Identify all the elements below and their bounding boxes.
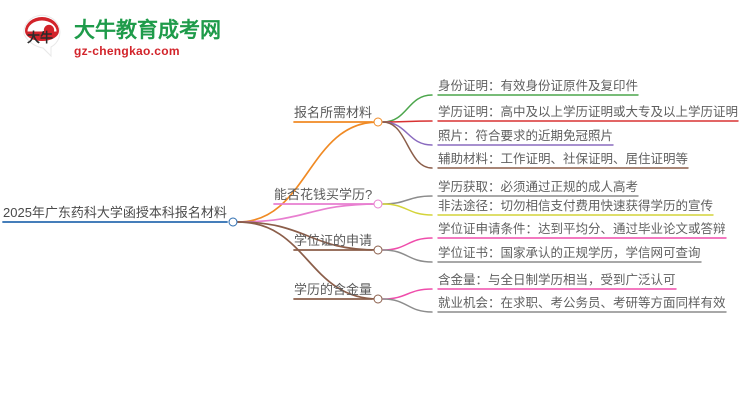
leaf-node-4-1[interactable]: 含金量：与全日制学历相当，受到广泛认可 bbox=[438, 272, 676, 288]
node-dot[interactable] bbox=[229, 218, 238, 227]
node-dot[interactable] bbox=[374, 200, 383, 209]
leaf-node-4-2[interactable]: 就业机会：在求职、考公务员、考研等方面同样有效 bbox=[438, 295, 726, 311]
leaf-node-3-1[interactable]: 学位证申请条件：达到平均分、通过毕业论文或答辩 bbox=[438, 221, 726, 237]
leaf-node-2-1[interactable]: 学历获取：必须通过正规的成人高考 bbox=[438, 179, 638, 195]
branch-node-3[interactable]: 学位证的申请 bbox=[294, 233, 372, 249]
leaf-node-2-2[interactable]: 非法途径：切勿相信支付费用快速获得学历的宣传 bbox=[438, 198, 713, 214]
branch-node-4[interactable]: 学历的含金量 bbox=[294, 282, 372, 298]
node-dot[interactable] bbox=[374, 118, 383, 127]
root-node[interactable]: 2025年广东药科大学函授本科报名材料 bbox=[3, 205, 227, 221]
leaf-node-1-2[interactable]: 学历证明：高中及以上学历证明或大专及以上学历证明 bbox=[438, 104, 738, 120]
branch-node-2[interactable]: 能否花钱买学历? bbox=[274, 187, 372, 203]
branch-node-1[interactable]: 报名所需材料 bbox=[294, 105, 372, 121]
leaf-node-1-1[interactable]: 身份证明：有效身份证原件及复印件 bbox=[438, 78, 638, 94]
mindmap-canvas: 2025年广东药科大学函授本科报名材料报名所需材料身份证明：有效身份证原件及复印… bbox=[0, 0, 750, 410]
leaf-node-1-4[interactable]: 辅助材料：工作证明、社保证明、居住证明等 bbox=[438, 151, 688, 167]
node-dot[interactable] bbox=[374, 295, 383, 304]
leaf-node-3-2[interactable]: 学位证书：国家承认的正规学历，学信网可查询 bbox=[438, 245, 701, 261]
node-dot[interactable] bbox=[374, 246, 383, 255]
leaf-node-1-3[interactable]: 照片：符合要求的近期免冠照片 bbox=[438, 128, 613, 144]
